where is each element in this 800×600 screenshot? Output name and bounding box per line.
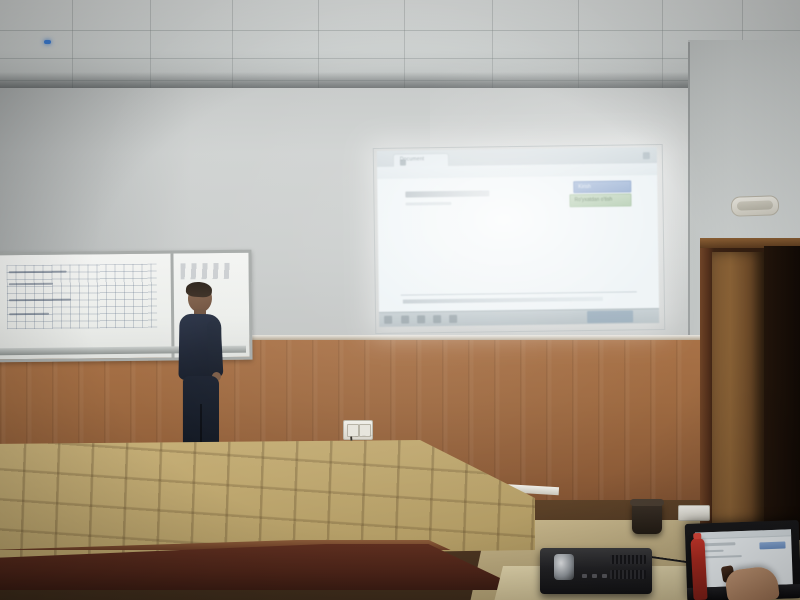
primary-action-button[interactable]: Kirish (573, 180, 631, 193)
laptop-browser-bar (695, 529, 791, 539)
projector-lens (554, 554, 574, 580)
whiteboard-handwriting (181, 263, 233, 280)
projector-vent-top (610, 555, 646, 564)
vent-louvers (737, 200, 773, 210)
projector-power-led (44, 40, 51, 44)
primary-action-button-label: Kirish (578, 184, 591, 190)
wall-power-outlet-right (678, 505, 710, 521)
browser-tab-label: Document (400, 156, 424, 162)
projector-power-button[interactable] (582, 574, 587, 578)
wall-corner-line (688, 42, 690, 362)
projector-vent-bottom (610, 570, 646, 579)
presenter-hair (186, 281, 213, 298)
presenter-arm (206, 320, 223, 379)
whiteboard-grid-drawing (7, 264, 158, 330)
page-content: Kirish Ro'yxatdan o'tish (377, 175, 659, 313)
wooden-door[interactable] (712, 252, 764, 540)
page-heading (405, 190, 489, 197)
projector-menu-button[interactable] (592, 574, 597, 578)
waste-bin (632, 502, 662, 534)
taskbar-active-window[interactable] (587, 310, 633, 323)
secondary-action-button-label: Ro'yxatdan o'tish (574, 197, 612, 204)
footer-text (403, 297, 603, 304)
browser-icon[interactable] (433, 315, 441, 323)
doorway-shadow (764, 246, 800, 540)
app-icon[interactable] (449, 315, 457, 323)
close-icon[interactable] (643, 152, 650, 159)
secondary-action-button[interactable]: Ro'yxatdan o'tish (569, 193, 631, 207)
projected-browser-window[interactable]: Document Kirish Ro'yxatdan o'tish (377, 147, 659, 327)
folder-icon[interactable] (417, 315, 425, 323)
start-icon[interactable] (384, 316, 392, 324)
search-icon[interactable] (401, 316, 409, 324)
bottle-cap (693, 533, 701, 539)
classroom-photo-scene: Document Kirish Ro'yxatdan o'tish (0, 0, 800, 600)
laptop-primary-button[interactable] (759, 542, 785, 550)
stage-platform (0, 440, 550, 600)
projector-source-button[interactable] (602, 574, 607, 578)
ceiling-table-projector (540, 548, 652, 594)
wall-ventilation-grille (731, 195, 780, 217)
footer-divider (401, 291, 637, 295)
page-subheading (406, 202, 452, 206)
waste-bin-rim (630, 499, 664, 506)
